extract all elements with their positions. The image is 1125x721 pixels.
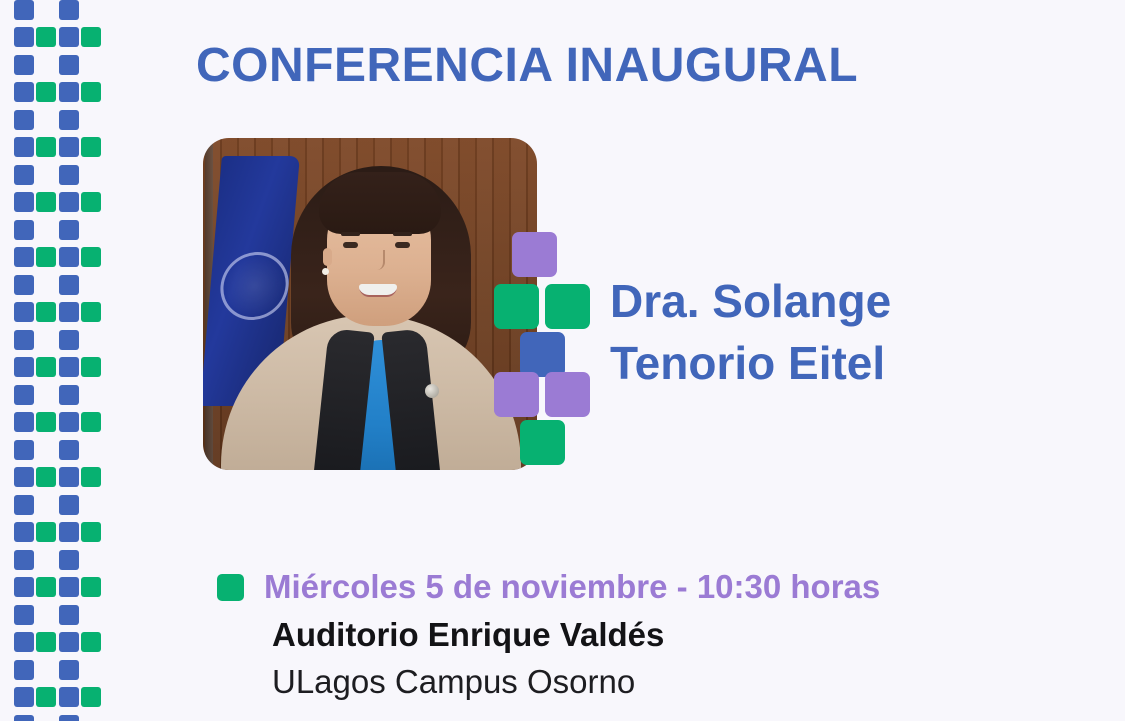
speaker-name-line-2: Tenorio Eitel bbox=[610, 332, 891, 394]
pattern-square bbox=[36, 412, 56, 432]
photo-flag-seal bbox=[218, 252, 292, 320]
pattern-square bbox=[59, 110, 79, 130]
pattern-square bbox=[59, 82, 79, 102]
pattern-square bbox=[59, 0, 79, 20]
pattern-square bbox=[81, 687, 101, 707]
speaker-name: Dra. Solange Tenorio Eitel bbox=[610, 270, 891, 394]
pattern-square bbox=[81, 412, 101, 432]
pattern-square bbox=[36, 82, 56, 102]
pattern-square bbox=[81, 522, 101, 542]
pattern-square bbox=[81, 632, 101, 652]
photo-earring bbox=[322, 268, 329, 275]
green-square-bullet-icon bbox=[217, 574, 244, 601]
pattern-square bbox=[14, 412, 34, 432]
pattern-square bbox=[14, 55, 34, 75]
decorative-pattern-strip bbox=[0, 0, 110, 721]
pattern-square bbox=[59, 247, 79, 267]
event-datetime-row: Miércoles 5 de noviembre - 10:30 horas bbox=[217, 568, 880, 606]
pattern-square bbox=[14, 0, 34, 20]
pattern-square bbox=[59, 660, 79, 680]
pattern-square bbox=[14, 302, 34, 322]
pattern-square bbox=[14, 165, 34, 185]
page-title: CONFERENCIA INAUGURAL bbox=[196, 38, 858, 93]
pattern-square bbox=[59, 577, 79, 597]
photo-eye-left bbox=[343, 242, 358, 248]
pattern-square bbox=[59, 715, 79, 721]
photo-eyebrow-right bbox=[393, 232, 412, 236]
deco-square-green-right bbox=[545, 284, 590, 329]
pattern-square bbox=[14, 715, 34, 721]
photo-nose bbox=[371, 250, 385, 270]
decorative-square-cluster bbox=[494, 232, 590, 444]
deco-square-blue-middle bbox=[520, 332, 565, 377]
pattern-square bbox=[59, 137, 79, 157]
pattern-square bbox=[14, 192, 34, 212]
pattern-square bbox=[81, 137, 101, 157]
pattern-square bbox=[14, 247, 34, 267]
pattern-square bbox=[81, 302, 101, 322]
pattern-square bbox=[14, 357, 34, 377]
pattern-square bbox=[36, 357, 56, 377]
pattern-square bbox=[59, 550, 79, 570]
pattern-square bbox=[14, 660, 34, 680]
pattern-square bbox=[36, 302, 56, 322]
pattern-square bbox=[81, 247, 101, 267]
pattern-square bbox=[36, 27, 56, 47]
pattern-square bbox=[59, 55, 79, 75]
pattern-square bbox=[14, 82, 34, 102]
photo-ear bbox=[323, 248, 332, 266]
pattern-square bbox=[36, 192, 56, 212]
event-datetime: Miércoles 5 de noviembre - 10:30 horas bbox=[264, 568, 880, 606]
pattern-square bbox=[81, 82, 101, 102]
pattern-square bbox=[59, 440, 79, 460]
pattern-square bbox=[14, 577, 34, 597]
pattern-square bbox=[36, 522, 56, 542]
speaker-name-line-1: Dra. Solange bbox=[610, 270, 891, 332]
deco-square-purple-left bbox=[494, 372, 539, 417]
event-campus: ULagos Campus Osorno bbox=[272, 663, 635, 701]
photo-eye-right bbox=[395, 242, 410, 248]
pattern-square bbox=[59, 495, 79, 515]
photo-hair-fringe bbox=[319, 172, 441, 234]
pattern-square bbox=[14, 220, 34, 240]
pattern-square bbox=[14, 385, 34, 405]
pattern-square bbox=[14, 467, 34, 487]
pattern-square bbox=[14, 495, 34, 515]
pattern-square bbox=[59, 330, 79, 350]
deco-square-green-bottom bbox=[520, 420, 565, 465]
pattern-square bbox=[36, 687, 56, 707]
pattern-square bbox=[36, 577, 56, 597]
pattern-square bbox=[14, 605, 34, 625]
pattern-square bbox=[14, 632, 34, 652]
pattern-square bbox=[81, 27, 101, 47]
pattern-square bbox=[59, 605, 79, 625]
event-venue: Auditorio Enrique Valdés bbox=[272, 616, 664, 654]
pattern-square bbox=[59, 385, 79, 405]
pattern-square bbox=[59, 357, 79, 377]
pattern-square bbox=[14, 440, 34, 460]
photo-lapel-pin bbox=[425, 384, 439, 398]
pattern-square bbox=[14, 137, 34, 157]
deco-square-green-left bbox=[494, 284, 539, 329]
pattern-square bbox=[59, 522, 79, 542]
pattern-square bbox=[14, 522, 34, 542]
pattern-square bbox=[59, 165, 79, 185]
pattern-square bbox=[14, 687, 34, 707]
pattern-square bbox=[59, 192, 79, 212]
pattern-square bbox=[36, 137, 56, 157]
pattern-square bbox=[81, 577, 101, 597]
pattern-square bbox=[14, 110, 34, 130]
speaker-photo bbox=[203, 138, 537, 470]
pattern-square bbox=[81, 467, 101, 487]
pattern-square bbox=[14, 550, 34, 570]
pattern-square bbox=[36, 467, 56, 487]
pattern-square bbox=[14, 27, 34, 47]
pattern-square bbox=[59, 632, 79, 652]
photo-smile bbox=[359, 284, 397, 297]
pattern-square bbox=[14, 275, 34, 295]
pattern-square bbox=[59, 687, 79, 707]
speaker-photo-image bbox=[203, 138, 537, 470]
pattern-square bbox=[59, 412, 79, 432]
pattern-square bbox=[14, 330, 34, 350]
pattern-square bbox=[81, 192, 101, 212]
pattern-square bbox=[59, 467, 79, 487]
deco-square-purple-right bbox=[545, 372, 590, 417]
photo-eyebrow-left bbox=[341, 232, 360, 236]
pattern-square bbox=[36, 632, 56, 652]
pattern-square bbox=[59, 275, 79, 295]
pattern-square bbox=[81, 357, 101, 377]
pattern-square bbox=[59, 220, 79, 240]
deco-square-purple-top bbox=[512, 232, 557, 277]
pattern-square bbox=[59, 27, 79, 47]
pattern-square bbox=[59, 302, 79, 322]
pattern-square bbox=[36, 247, 56, 267]
